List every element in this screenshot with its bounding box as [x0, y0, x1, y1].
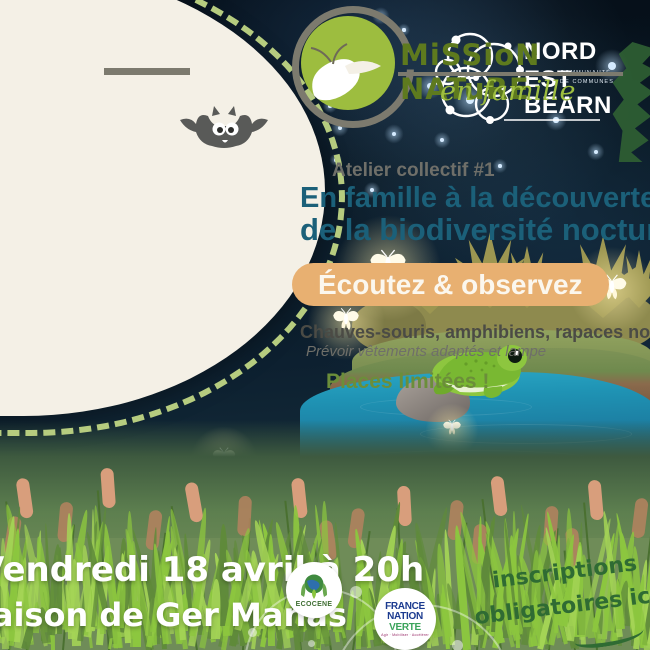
workshop-kicker: Atelier collectif #1 — [332, 160, 495, 182]
mission-nature-logo — [292, 6, 414, 128]
network-dot — [350, 586, 362, 598]
network-dot — [452, 640, 463, 650]
fnv-line3: VERTE — [389, 622, 421, 633]
logo-disc — [301, 16, 395, 110]
fnv-tagline: Agir · Mobiliser · Accélérer — [381, 633, 429, 637]
bat-icon — [178, 104, 270, 160]
species-list: Chauves-souris, amphibiens, rapaces noct… — [300, 322, 650, 343]
star-icon — [440, 138, 444, 142]
event-poster: NORD EST BÉARN COMMUNAUTÉ DE COMMUNES — [0, 0, 650, 650]
ecocene-label: ECOCENE — [296, 601, 333, 608]
france-nation-verte-logo: FRANCE NATION VERTE Agir · Mobiliser · A… — [374, 588, 436, 650]
ecocene-globe-logo: ECOCENE — [286, 562, 342, 618]
listen-observe-label: Écoutez & observez — [318, 269, 583, 301]
logo-bar — [104, 68, 190, 75]
cattail-reed-icon — [100, 468, 116, 509]
gear-note: Prévoir vêtements adaptés et lampe — [306, 343, 546, 360]
brand-name-line2: en famille — [440, 76, 576, 107]
panel-title-line1: En famille à la découverte — [300, 182, 650, 215]
network-dot — [248, 628, 257, 637]
limited-places-note: Places limitées ! — [326, 370, 489, 394]
listen-observe-pill: Écoutez & observez — [292, 263, 609, 306]
event-date: Vendredi 18 avril à 20h — [0, 550, 424, 590]
panel-title-line2: de la biodiversité nocturne — [300, 212, 650, 248]
star-icon — [594, 150, 598, 154]
star-icon — [498, 164, 502, 168]
star-icon — [392, 132, 397, 137]
fnv-line1: FRANCE — [385, 602, 425, 612]
fnv-line2: NATION — [387, 612, 423, 622]
network-dot — [308, 640, 315, 647]
